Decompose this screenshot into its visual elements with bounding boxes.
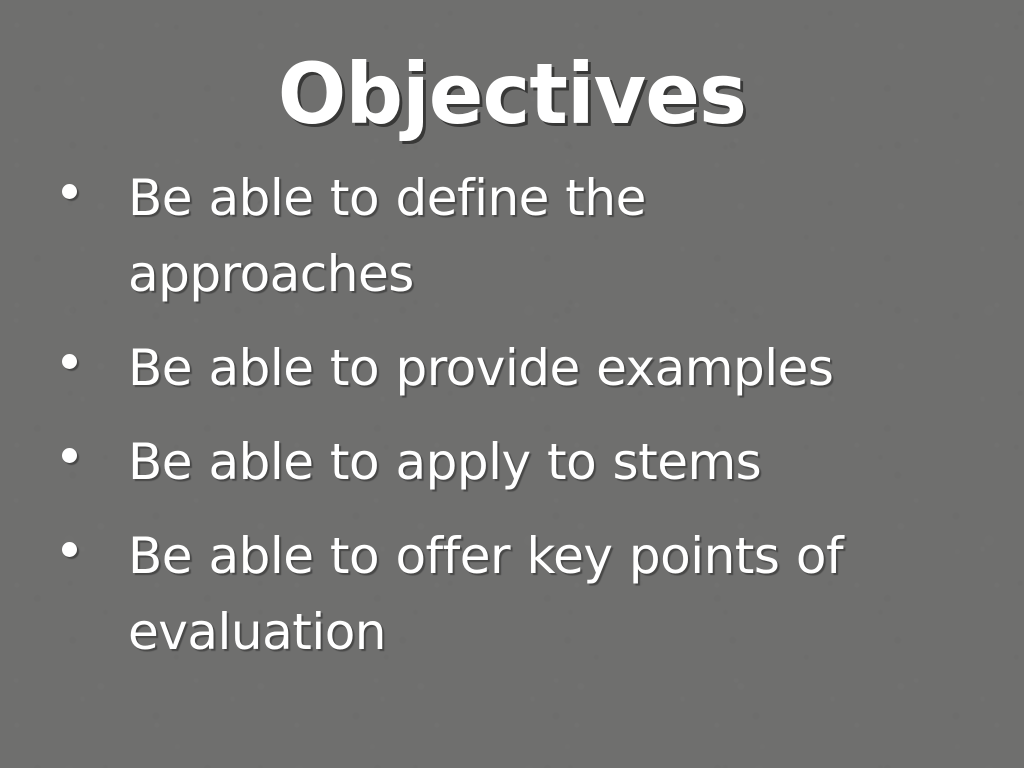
list-item-label: Be able to define the approaches (128, 160, 928, 312)
filled-circle-bullet-icon (62, 448, 77, 463)
presentation-slide: Objectives Be able to define the approac… (0, 0, 1024, 768)
objectives-bullet-list: Be able to define the approaches Be able… (54, 160, 970, 688)
list-item: Be able to provide examples (54, 330, 970, 406)
slide-title-block: Objectives (0, 52, 1024, 136)
list-item-label: Be able to offer key points of evaluatio… (128, 518, 928, 670)
filled-circle-bullet-icon (62, 184, 77, 199)
list-item: Be able to offer key points of evaluatio… (54, 518, 970, 670)
list-item-label: Be able to provide examples (128, 330, 928, 406)
page-title: Objectives (278, 52, 746, 136)
list-item-label: Be able to apply to stems (128, 424, 928, 500)
filled-circle-bullet-icon (62, 354, 77, 369)
filled-circle-bullet-icon (62, 542, 77, 557)
list-item: Be able to apply to stems (54, 424, 970, 500)
list-item: Be able to define the approaches (54, 160, 970, 312)
